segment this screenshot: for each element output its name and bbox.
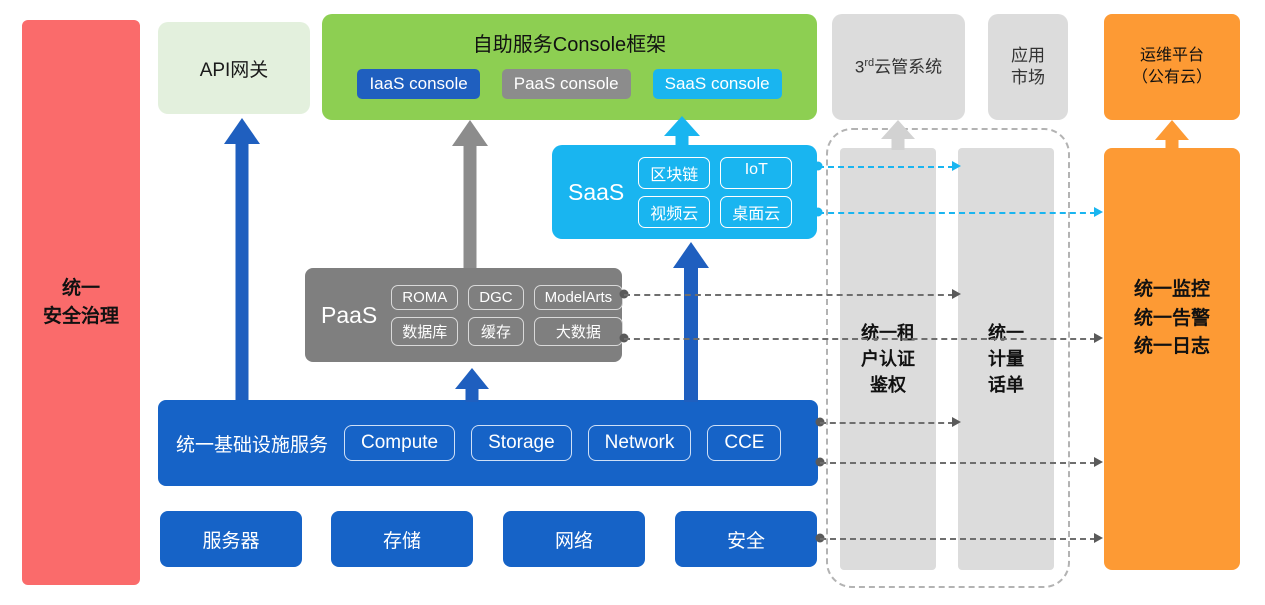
iaas-console-chip[interactable]: IaaS console <box>357 69 479 99</box>
paas-service-dgc[interactable]: DGC <box>468 285 523 310</box>
arrow-shared-to-third-party <box>881 120 915 150</box>
architecture-diagram: 统一 安全治理 API网关 自助服务Console框架 IaaS console… <box>0 0 1265 605</box>
console-framework: 自助服务Console框架 IaaS console PaaS console … <box>322 14 817 120</box>
ops-monitoring-panel: 统一监控 统一告警 统一日志 <box>1104 148 1240 570</box>
unified-billing-line3: 话单 <box>988 372 1024 398</box>
connector-arrowhead-resources-ops <box>1094 533 1103 543</box>
saas-service-grid: 区块链 IoT 视频云 桌面云 <box>638 157 792 228</box>
paas-service-roma[interactable]: ROMA <box>391 285 458 310</box>
resource-box-storage[interactable]: 存储 <box>331 511 473 567</box>
infra-service-network[interactable]: Network <box>588 425 692 461</box>
arrow-saas-to-console <box>664 116 700 146</box>
resource-box-server[interactable]: 服务器 <box>160 511 302 567</box>
connector-infra-to-ops <box>820 462 1096 464</box>
infra-service-cce[interactable]: CCE <box>707 425 781 461</box>
ops-platform-line1: 运维平台 <box>1132 45 1212 67</box>
app-market-box[interactable]: 应用 市场 <box>988 14 1068 120</box>
unified-billing-line2: 计量 <box>988 346 1024 372</box>
paas-service-modelarts[interactable]: ModelArts <box>534 285 624 310</box>
resource-label-server: 服务器 <box>202 526 259 553</box>
governance-text: 统一 安全治理 <box>43 275 119 330</box>
resource-label-storage: 存储 <box>383 526 421 553</box>
saas-label: SaaS <box>568 179 624 206</box>
governance-line2: 安全治理 <box>43 303 119 331</box>
ops-monitoring-line2: 统一告警 <box>1134 305 1210 334</box>
api-gateway-label: API网关 <box>200 55 269 82</box>
ops-platform-line2: （公有云） <box>1132 67 1212 89</box>
paas-label: PaaS <box>321 302 377 329</box>
connector-infra-to-auth <box>820 422 954 424</box>
paas-service-bigdata[interactable]: 大数据 <box>534 317 624 346</box>
unified-auth-text: 统一租 户认证 鉴权 <box>861 320 915 398</box>
connector-saas-to-ops <box>818 212 1096 214</box>
saas-console-chip[interactable]: SaaS console <box>653 69 782 99</box>
resource-label-security: 安全 <box>727 526 765 553</box>
infra-service-compute[interactable]: Compute <box>344 425 455 461</box>
arrow-paas-to-console <box>452 120 488 268</box>
connector-paas-to-ops <box>624 338 1096 340</box>
saas-service-video-cloud[interactable]: 视频云 <box>638 196 710 228</box>
unified-infrastructure-label: 统一基础设施服务 <box>176 430 328 457</box>
connector-paas-to-auth <box>624 294 954 296</box>
unified-billing-text: 统一 计量 话单 <box>988 320 1024 398</box>
paas-service-grid: ROMA DGC ModelArts 数据库 缓存 大数据 <box>391 285 623 346</box>
governance-panel: 统一 安全治理 <box>22 20 140 585</box>
connector-resources-to-ops <box>820 538 1096 540</box>
arrow-infra-to-api-gateway <box>224 118 260 400</box>
connector-arrowhead-paas-auth <box>952 289 961 299</box>
ops-monitoring-line1: 统一监控 <box>1134 276 1210 305</box>
paas-block: PaaS ROMA DGC ModelArts 数据库 缓存 大数据 <box>305 268 622 362</box>
app-market-line1: 应用 <box>1011 45 1045 67</box>
saas-service-blockchain[interactable]: 区块链 <box>638 157 710 189</box>
ops-monitoring-text: 统一监控 统一告警 统一日志 <box>1134 276 1210 362</box>
ops-monitoring-line3: 统一日志 <box>1134 333 1210 362</box>
ops-platform-box[interactable]: 运维平台 （公有云） <box>1104 14 1240 120</box>
app-market-text: 应用 市场 <box>1011 45 1045 89</box>
unified-auth-line2: 户认证 <box>861 346 915 372</box>
console-framework-title: 自助服务Console框架 <box>473 28 666 57</box>
governance-line1: 统一 <box>43 275 119 303</box>
connector-arrowhead-infra-ops <box>1094 457 1103 467</box>
connector-saas-to-auth <box>818 166 954 168</box>
connector-arrowhead-saas-auth <box>952 161 961 171</box>
app-market-line2: 市场 <box>1011 67 1045 89</box>
resource-label-network: 网络 <box>555 526 593 553</box>
arrow-infra-to-paas <box>455 368 489 402</box>
paas-service-database[interactable]: 数据库 <box>391 317 458 346</box>
saas-service-desktop-cloud[interactable]: 桌面云 <box>720 196 792 228</box>
connector-arrowhead-paas-ops <box>1094 333 1103 343</box>
unified-infrastructure-bar: 统一基础设施服务 Compute Storage Network CCE <box>158 400 818 486</box>
connector-arrowhead-infra-auth <box>952 417 961 427</box>
third-party-cloud-mgmt-label: 3rd云管系统 <box>855 56 942 79</box>
saas-block: SaaS 区块链 IoT 视频云 桌面云 <box>552 145 817 239</box>
arrow-ops-side-to-ops-platform <box>1155 120 1189 150</box>
unified-billing-line1: 统一 <box>988 320 1024 346</box>
connector-arrowhead-saas-ops <box>1094 207 1103 217</box>
resource-box-network[interactable]: 网络 <box>503 511 645 567</box>
paas-service-cache[interactable]: 缓存 <box>468 317 523 346</box>
arrow-infra-to-saas <box>673 242 709 402</box>
console-chip-row: IaaS console PaaS console SaaS console <box>322 69 817 99</box>
paas-console-chip[interactable]: PaaS console <box>502 69 631 99</box>
saas-service-iot[interactable]: IoT <box>720 157 792 189</box>
infra-service-storage[interactable]: Storage <box>471 425 572 461</box>
ops-platform-text: 运维平台 （公有云） <box>1132 45 1212 90</box>
unified-auth-line3: 鉴权 <box>861 372 915 398</box>
unified-auth-line1: 统一租 <box>861 320 915 346</box>
resource-box-security[interactable]: 安全 <box>675 511 817 567</box>
api-gateway-box[interactable]: API网关 <box>158 22 310 114</box>
third-party-cloud-mgmt-box[interactable]: 3rd云管系统 <box>832 14 965 120</box>
